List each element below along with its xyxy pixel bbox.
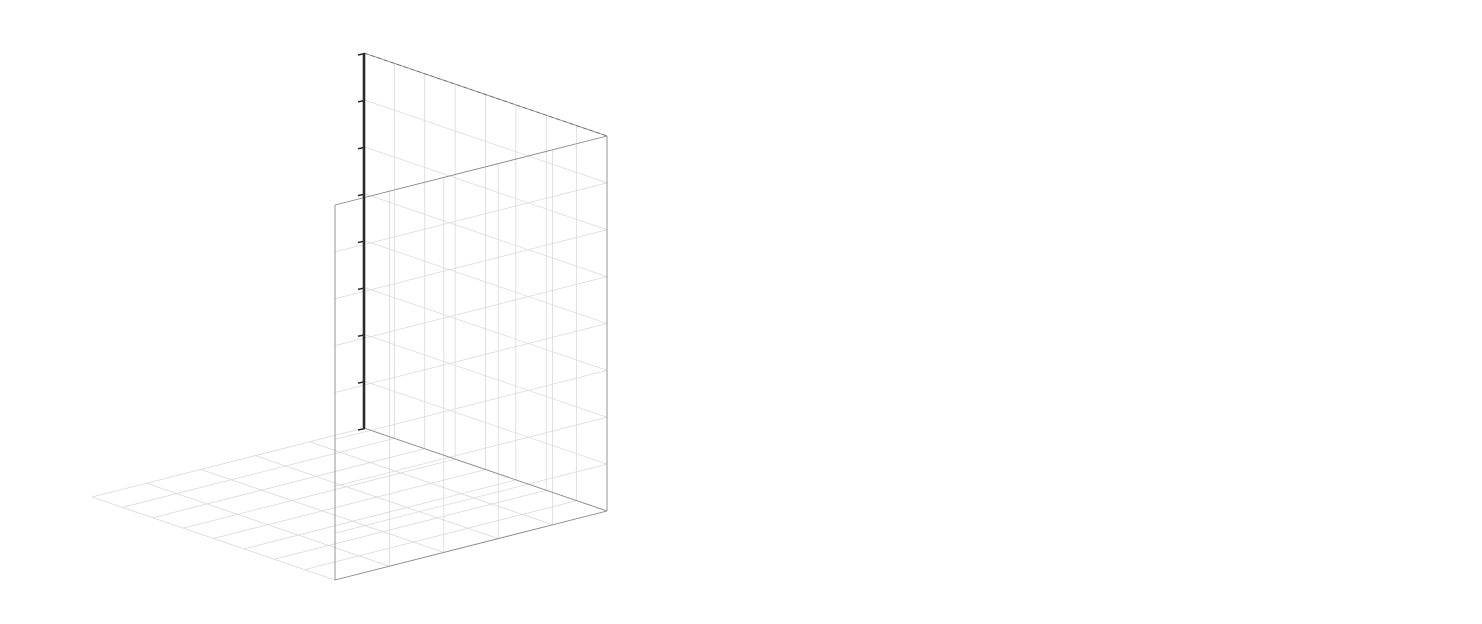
floor-grid-line	[92, 497, 335, 580]
pane-edge	[335, 511, 607, 580]
floor-grid-line	[255, 456, 498, 539]
side-wall-grid-line	[335, 417, 607, 486]
side-wall-grid-line	[335, 183, 607, 252]
axes3d-left	[92, 53, 607, 580]
floor-grid-line	[201, 469, 444, 552]
chart-svg-left	[0, 0, 741, 624]
chart-panel-right	[741, 0, 1482, 624]
side-wall-grid-line	[335, 464, 607, 533]
floor-grid-line	[214, 470, 486, 539]
side-wall-grid-line	[335, 277, 607, 346]
pane-edge	[335, 136, 607, 205]
floor-grid-line	[153, 449, 425, 518]
floor-grid-line	[183, 459, 455, 528]
chart-svg-right	[741, 0, 1482, 624]
side-wall-grid-line	[335, 370, 607, 439]
figure-root	[0, 0, 1482, 624]
floor-grid-line	[92, 428, 364, 497]
floor-grid-line	[244, 480, 516, 549]
side-wall-grid-line	[335, 324, 607, 393]
floor-grid-line	[305, 501, 577, 570]
floor-grid-line	[146, 483, 389, 566]
side-wall-grid-line	[335, 230, 607, 299]
floor-grid-line	[274, 490, 546, 559]
z-axis-tick	[358, 429, 365, 431]
chart-panel-left	[0, 0, 741, 624]
floor-grid-line	[122, 438, 394, 507]
